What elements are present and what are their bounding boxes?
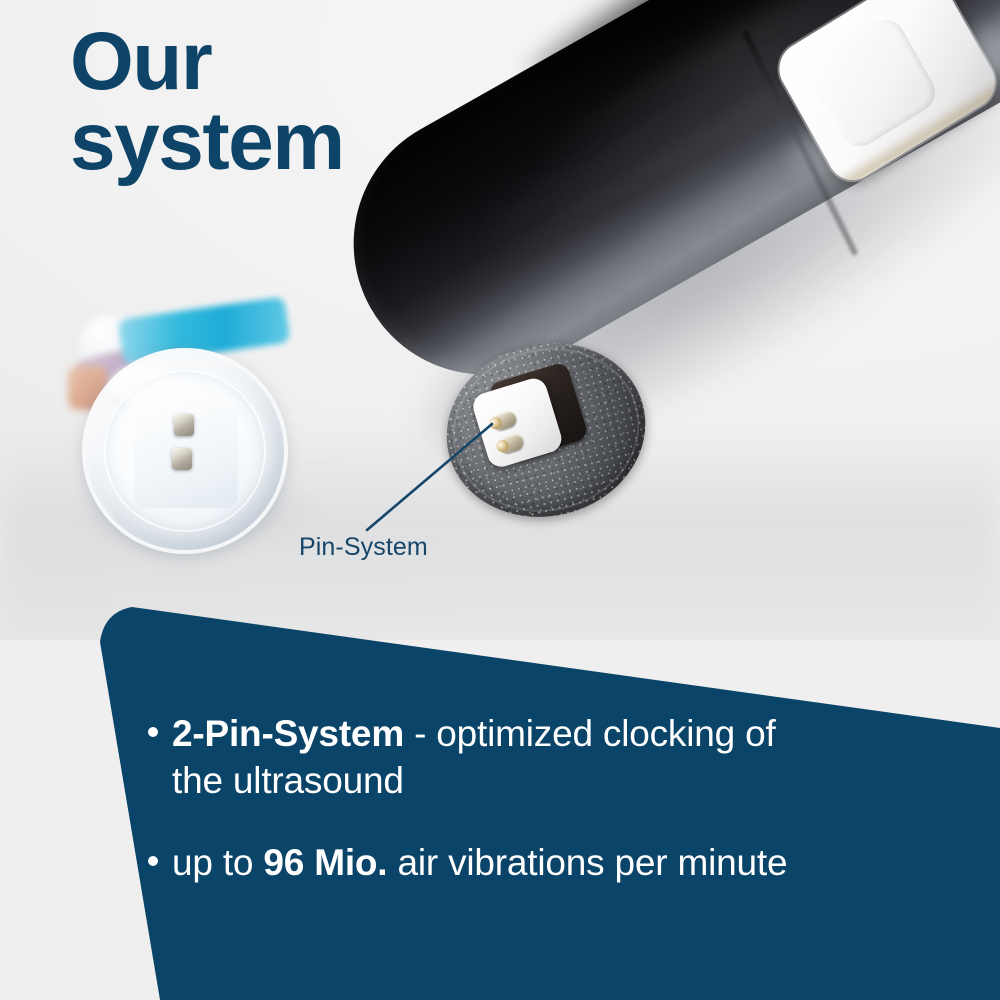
infographic-canvas: Pin-System Our system 2-Pin-System - opt…: [0, 0, 1000, 1000]
bullet-2-rest: air vibrations per minute: [387, 842, 787, 883]
clear-applicator-cap: [62, 292, 322, 562]
bullet-2-lead: up to: [172, 842, 263, 883]
callout-label: Pin-System: [299, 533, 428, 562]
page-title: Our system: [70, 22, 344, 181]
bullet-2-bold: 96 Mio.: [263, 842, 387, 883]
list-item: up to 96 Mio. air vibrations per minute: [148, 839, 808, 886]
bullet-1-bold: 2-Pin-System: [172, 713, 404, 754]
bullet-text-1: 2-Pin-System - optimized clocking of the…: [172, 710, 808, 805]
connector-pin-2-tip: [495, 439, 510, 454]
connector-pin-1-tip: [488, 416, 503, 431]
bullet-dot-icon: [148, 856, 158, 866]
bullet-text-2: up to 96 Mio. air vibrations per minute: [172, 839, 787, 886]
cap-specular-highlight: [110, 364, 180, 404]
connector-pin-1: [490, 409, 518, 431]
info-panel-text: 2-Pin-System - optimized clocking of the…: [148, 710, 808, 920]
list-item: 2-Pin-System - optimized clocking of the…: [148, 710, 808, 805]
connector-pin-2: [497, 432, 525, 454]
info-panel: 2-Pin-System - optimized clocking of the…: [0, 560, 1000, 1000]
bullet-dot-icon: [148, 727, 158, 737]
